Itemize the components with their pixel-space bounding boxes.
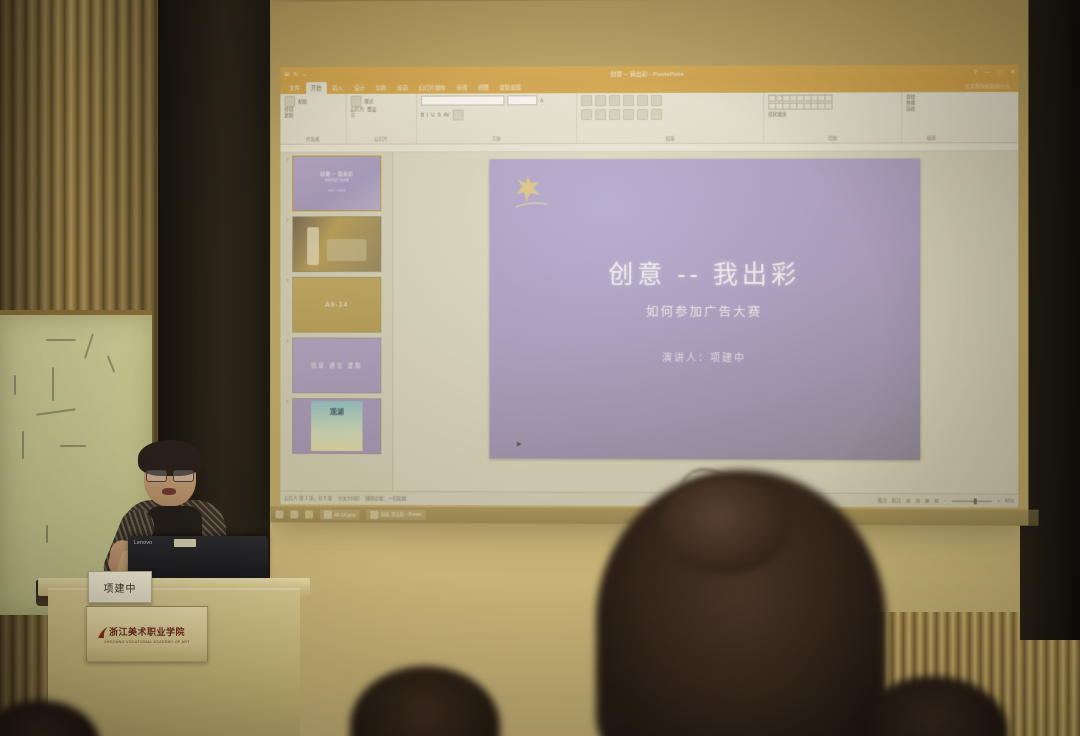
taskbar-item-powerpoint[interactable]: 创意 我出彩 - Power [367, 510, 426, 520]
list-item[interactable]: 1 创意 -- 我出彩 如何参加广告大赛 演讲人：项建中 [286, 155, 389, 211]
slide-subtitle: 如何参加广告大赛 [489, 301, 920, 320]
quick-access-toolbar[interactable]: ⊞ ↻ ⌄ [284, 71, 307, 78]
text-direction-icon[interactable] [651, 95, 662, 106]
ribbon-group-font[interactable]: A B I U S AV 字体 [417, 93, 577, 143]
thumb-number: 4 [286, 338, 290, 344]
italic-icon[interactable]: I [427, 113, 428, 118]
star-figure-logo-icon [513, 171, 555, 215]
view-normal-icon[interactable]: ▤ [906, 498, 910, 504]
powerpoint-icon[interactable] [371, 511, 379, 519]
paste-icon[interactable] [284, 96, 295, 107]
shape-fill-label[interactable]: 形状填充 [768, 112, 786, 118]
select-label[interactable]: 选择 [906, 106, 915, 112]
group-label-drawing: 绘图 [768, 135, 897, 142]
view-reading-icon[interactable]: ▦ [925, 498, 929, 504]
ribbon-group-editing[interactable]: 查找 替换 选择 编辑 [902, 92, 961, 142]
chrome-icon[interactable] [324, 511, 332, 519]
list-item[interactable]: 3 A9-14 [286, 277, 389, 333]
tell-me-search[interactable]: 告诉我你想要做什么 [965, 83, 1011, 90]
maximize-button[interactable]: ▢ [997, 69, 1003, 76]
customize-chevron-icon[interactable]: ⌄ [302, 71, 307, 78]
zoom-in-button[interactable]: + [997, 498, 1000, 503]
laptop-brand-label: Lenovo [134, 540, 152, 546]
zoom-slider[interactable] [952, 500, 992, 502]
shapes-gallery[interactable] [768, 94, 897, 109]
thumb-number: 2 [286, 216, 290, 222]
tab-transitions[interactable]: 切换 [371, 82, 392, 94]
current-slide[interactable]: 创意 -- 我出彩 如何参加广告大赛 演讲人：项建中 ➤ 单击此处添加备注 [489, 159, 920, 460]
thumb-title: 观湖 [311, 407, 362, 417]
group-label-slides: 幻灯片 [351, 137, 412, 144]
venue-plaque-en: ZHEJIANG VOCATIONAL ACADEMY OF ART [104, 640, 190, 644]
thumb-subtitle: 如何参加广告大赛 [293, 178, 380, 182]
view-sorter-icon[interactable]: ▥ [916, 498, 920, 504]
minimize-button[interactable]: — [984, 69, 990, 75]
font-size-combo[interactable] [507, 95, 537, 105]
copy-label[interactable]: 复制 [284, 113, 293, 119]
underline-icon[interactable]: U [431, 113, 434, 118]
speaker-name-card: 项建中 [88, 571, 152, 603]
comments-button[interactable]: 批注 [892, 498, 901, 504]
thumb-author: 演讲人：项建中 [293, 188, 380, 192]
thumb-title: 创意 -- 我出彩 [293, 170, 380, 177]
taskbar-label: 创意 我出彩 - Power [381, 512, 422, 518]
thumbnail-slide-4[interactable]: 创意 语言 逻辑 [292, 338, 381, 394]
paste-label[interactable]: 粘贴 [298, 98, 307, 104]
notes-button[interactable]: 备注 [878, 497, 887, 503]
speaker-name: 项建中 [104, 580, 137, 595]
align-left-icon[interactable] [581, 109, 592, 120]
font-name-combo[interactable] [421, 95, 504, 105]
thumb-number: 1 [286, 156, 290, 162]
ribbon-group-paragraph[interactable]: 段落 [577, 93, 764, 143]
thumb-image: 观湖 [311, 401, 362, 451]
work-area: 1 创意 -- 我出彩 如何参加广告大赛 演讲人：项建中 2 [280, 151, 1018, 493]
convert-smartart-icon[interactable] [651, 109, 662, 120]
list-item[interactable]: 4 创意 语言 逻辑 [286, 338, 389, 394]
columns-icon[interactable] [637, 109, 648, 120]
justify-icon[interactable] [623, 109, 634, 120]
slide-counter: 幻灯片 第 1 张，共 5 张 [284, 495, 332, 501]
line-spacing-icon[interactable] [637, 95, 648, 106]
taskbar-item-pptx[interactable]: A9-14.pptx [320, 510, 360, 520]
taskbar-label: A9-14.pptx [334, 512, 356, 517]
thumbnail-slide-1[interactable]: 创意 -- 我出彩 如何参加广告大赛 演讲人：项建中 [292, 155, 381, 211]
laptop-sticker [174, 539, 196, 547]
bullets-icon[interactable] [581, 95, 592, 106]
section-label[interactable]: 节 [351, 113, 356, 119]
new-slide-icon[interactable] [351, 96, 362, 107]
slideshow-icon[interactable]: ▧ [934, 498, 938, 504]
lecture-hall-photo: ⊞ ↻ ⌄ 创意 -- 我出彩 - PowerPoint ? — ▢ ✕ 文件 … [0, 0, 1080, 736]
tab-design[interactable]: 设计 [349, 82, 370, 94]
projection-screen: ⊞ ↻ ⌄ 创意 -- 我出彩 - PowerPoint ? — ▢ ✕ 文件 … [271, 0, 1029, 526]
venue-plaque: 浙江美术职业学院 ZHEJIANG VOCATIONAL ACADEMY OF … [86, 606, 208, 662]
dark-wall-edge-right [1020, 0, 1080, 640]
shape-curve-icon[interactable] [825, 102, 833, 109]
shape-more-icon[interactable] [825, 94, 833, 101]
increase-font-icon[interactable]: A [540, 98, 543, 103]
slide-thumbnail-pane[interactable]: 1 创意 -- 我出彩 如何参加广告大赛 演讲人：项建中 2 [280, 152, 393, 490]
tab-home[interactable]: 开始 [306, 82, 327, 94]
numbering-icon[interactable] [595, 95, 606, 106]
powerpoint-window: ⊞ ↻ ⌄ 创意 -- 我出彩 - PowerPoint ? — ▢ ✕ 文件 … [280, 65, 1018, 508]
help-icon[interactable]: ? [974, 69, 977, 75]
tab-addins[interactable]: 帮助加载 [495, 81, 526, 93]
mouse-cursor-icon: ➤ [515, 440, 522, 449]
zoom-slider-knob[interactable] [974, 498, 977, 504]
thumb-photo-shape [307, 227, 319, 265]
layout-label[interactable]: 版式 [364, 98, 373, 104]
group-label-paragraph: 段落 [581, 136, 759, 143]
thumb-number: 3 [286, 277, 290, 283]
thumbnail-slide-5[interactable]: 观湖 [292, 398, 381, 454]
ribbon-group-clipboard[interactable]: 粘贴 剪切 复制 剪贴板 [280, 94, 346, 144]
window-title: 创意 -- 我出彩 - PowerPoint [610, 69, 683, 78]
undo-icon[interactable]: ↻ [293, 71, 298, 78]
academy-logo-icon [95, 625, 111, 641]
tab-review[interactable]: 审阅 [451, 82, 472, 94]
tab-animations[interactable]: 动画 [392, 82, 413, 94]
slide-author: 演讲人：项建中 [489, 349, 920, 365]
start-button-icon[interactable] [276, 510, 284, 518]
group-label-editing: 编辑 [906, 135, 956, 142]
increase-indent-icon[interactable] [623, 95, 634, 106]
thumb-photo-shape2 [327, 239, 367, 261]
align-right-icon[interactable] [609, 109, 620, 120]
group-label-clipboard: 剪贴板 [284, 137, 341, 144]
venue-plaque-cn: 浙江美术职业学院 [109, 625, 185, 638]
tab-file[interactable]: 文件 [284, 82, 305, 94]
tab-insert[interactable]: 插入 [327, 82, 348, 94]
thumbnail-slide-3[interactable]: A9-14 [292, 277, 381, 333]
thumb-title: 创意 语言 逻辑 [293, 339, 380, 393]
window-controls[interactable]: ? — ▢ ✕ [974, 69, 1016, 76]
thumb-number: 5 [286, 398, 290, 404]
ribbon[interactable]: 粘贴 剪切 复制 剪贴板 版式 幻灯片 [280, 92, 1018, 145]
thumbnail-slide-2[interactable] [292, 216, 381, 272]
font-color-icon[interactable] [452, 109, 463, 120]
speaker-glasses-icon [146, 470, 194, 480]
char-spacing-icon[interactable]: AV [444, 113, 450, 118]
language-indicator[interactable]: 中文(中国) [338, 495, 359, 501]
thumb-title: A9-14 [293, 278, 380, 332]
tab-slideshow[interactable]: 幻灯片放映 [414, 82, 451, 94]
zoom-level[interactable]: 68% [1005, 498, 1014, 503]
list-item[interactable]: 5 观湖 [286, 398, 389, 454]
ribbon-group-slides[interactable]: 版式 幻灯片 重设 节 幻灯片 [347, 94, 417, 144]
zoom-out-button[interactable]: − [944, 498, 947, 503]
speaker-mouth [162, 488, 176, 495]
tab-view[interactable]: 视图 [473, 81, 494, 93]
align-center-icon[interactable] [595, 109, 606, 120]
slide-title: 创意 -- 我出彩 [489, 255, 920, 291]
decrease-indent-icon[interactable] [609, 95, 620, 106]
bold-icon[interactable]: B [421, 113, 424, 118]
ribbon-group-drawing[interactable]: 形状填充 绘图 [764, 92, 902, 143]
group-label-font: 字体 [421, 136, 572, 143]
slide-editing-stage[interactable]: 创意 -- 我出彩 如何参加广告大赛 演讲人：项建中 ➤ 单击此处添加备注 [393, 151, 1018, 493]
list-item[interactable]: 2 [286, 216, 389, 272]
accessibility-indicator[interactable]: 辅助功能：一切就绪 [365, 495, 406, 501]
search-icon[interactable] [290, 510, 298, 518]
folder-icon[interactable] [305, 511, 313, 519]
save-icon[interactable]: ⊞ [284, 71, 289, 78]
strikethrough-icon[interactable]: S [438, 113, 441, 118]
close-button[interactable]: ✕ [1010, 69, 1015, 76]
